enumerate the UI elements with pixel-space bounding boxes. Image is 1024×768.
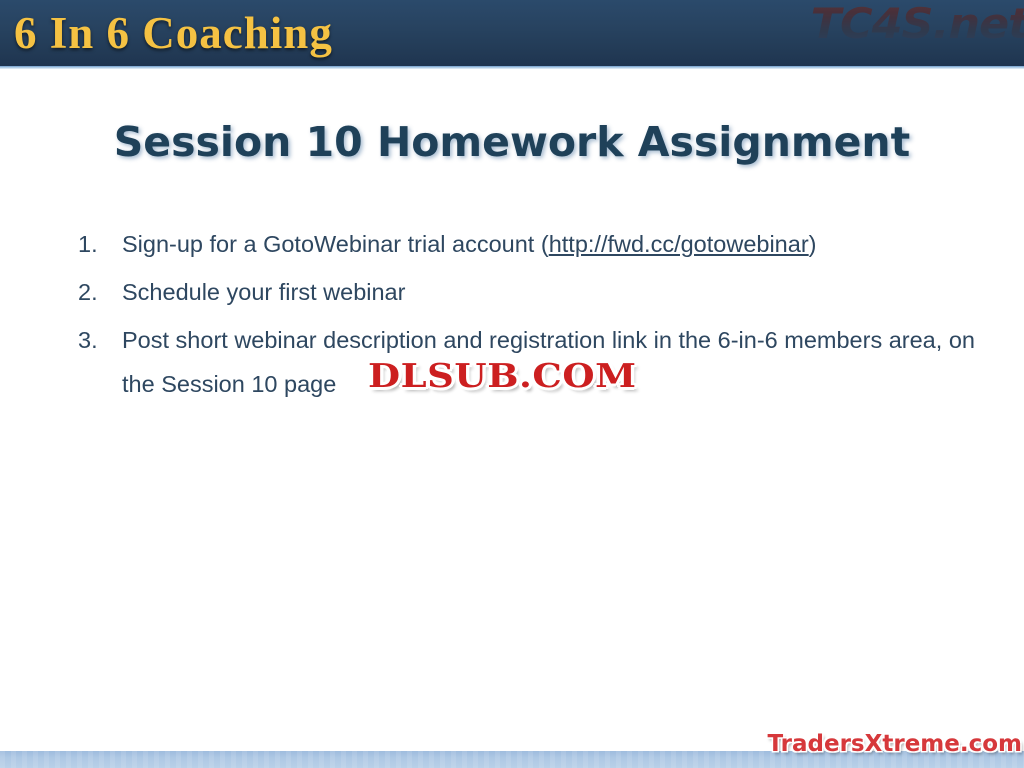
list-item-number: 1. <box>78 222 122 266</box>
header-underline-divider <box>0 66 1024 69</box>
list-item-text-before: Sign-up for a GotoWebinar trial account … <box>122 231 549 257</box>
list-item-number: 3. <box>78 318 122 362</box>
tc4s-corner-logo: TC4S.net <box>810 0 1024 50</box>
tradersxtreme-footer-logo: TradersXtreme.com <box>768 731 1023 757</box>
brand-part-coaching: Coaching <box>142 8 333 58</box>
list-item-text-after: ) <box>809 231 817 257</box>
list-item: 1. Sign-up for a GotoWebinar trial accou… <box>78 222 978 266</box>
presentation-slide: 6 In 6 Coaching TC4S.net Session 10 Home… <box>0 0 1024 768</box>
page-title: Session 10 Homework Assignment <box>0 118 1024 166</box>
header-band: 6 In 6 Coaching TC4S.net <box>0 0 1024 66</box>
list-item: 2. Schedule your first webinar <box>78 270 978 314</box>
gotowebinar-link[interactable]: http://fwd.cc/gotowebinar <box>549 231 809 257</box>
brand-part-six-a: 6 <box>14 8 38 58</box>
list-item-number: 2. <box>78 270 122 314</box>
list-item-text: Sign-up for a GotoWebinar trial account … <box>122 222 978 266</box>
list-item-text: Schedule your first webinar <box>122 270 978 314</box>
dlsub-watermark: DLSUB.COM <box>368 356 637 395</box>
brand-part-six-b: 6 <box>107 8 131 58</box>
brand-part-in: In <box>50 8 95 58</box>
brand-title: 6 In 6 Coaching <box>14 5 333 61</box>
